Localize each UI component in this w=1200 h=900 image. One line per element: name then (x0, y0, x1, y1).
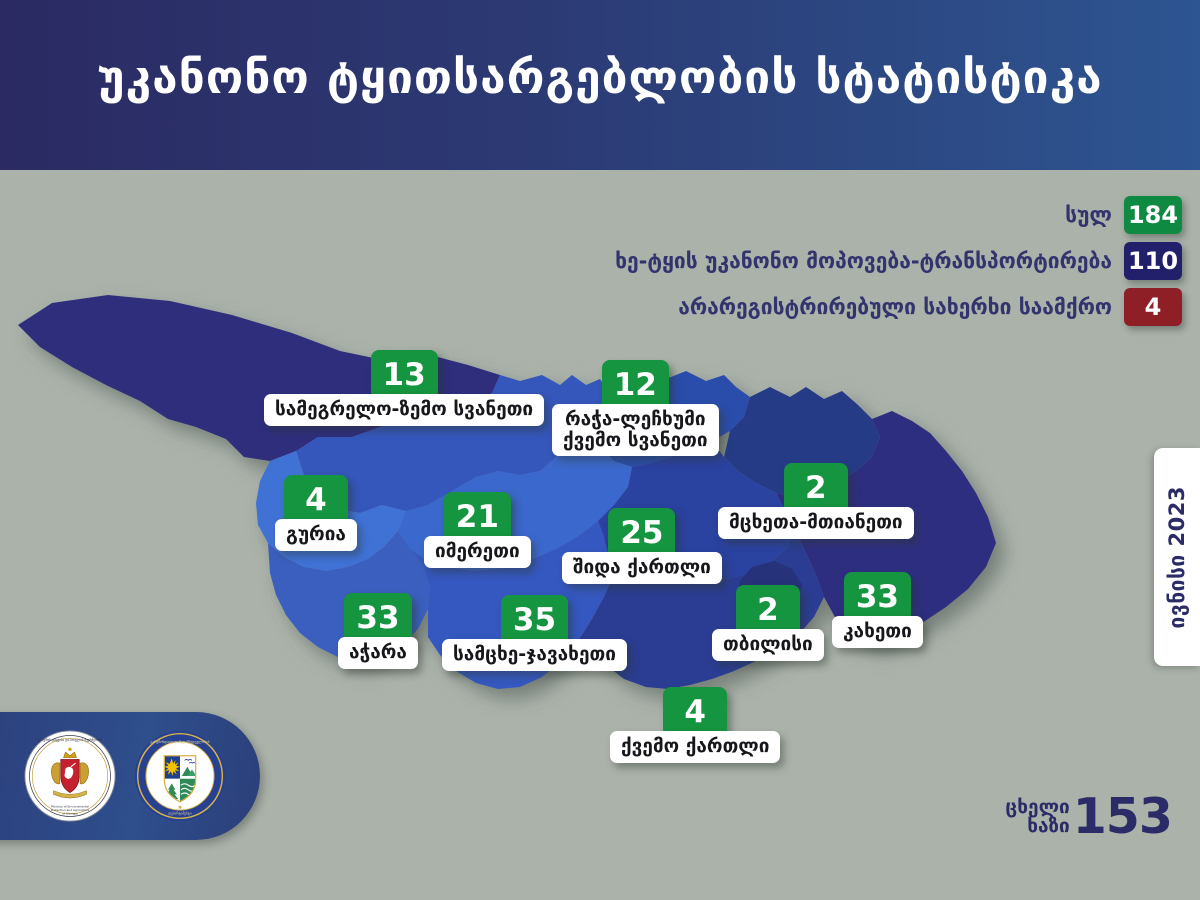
callout-label-samegrelo-zemo-svaneti: სამეგრელო-ზემო სვანეთი (264, 394, 544, 426)
callout-label-mtskheta-mtianeti: მცხეთა-მთიანეთი (718, 507, 914, 539)
callout-label-adjara: აჭარა (338, 637, 418, 669)
callout-adjara[interactable]: 33 აჭარა (338, 593, 418, 669)
callout-value-guria: 4 (284, 475, 348, 525)
callout-value-tbilisi: 2 (736, 585, 800, 635)
callout-value-adjara: 33 (344, 593, 411, 643)
logo-panel: გარემოს დაცვისა და სოფლის მეურნეობის Min… (0, 712, 260, 840)
svg-text:გარემოს დაცვისა და სოფლის მეურ: გარემოს დაცვისა და სოფლის მეურნეობის (38, 738, 103, 742)
hotline-number: 153 (1073, 796, 1172, 838)
callout-label-kvemo-kartli: ქვემო ქართლი (610, 731, 780, 763)
callout-kvemo-kartli[interactable]: 4 ქვემო ქართლი (610, 687, 780, 763)
callout-value-samtskhe-javakheti: 35 (501, 595, 568, 645)
svg-text:of Georgia: of Georgia (62, 812, 77, 816)
callout-guria[interactable]: 4 გურია (275, 475, 357, 551)
hotline-word-line: ხაზი (1027, 817, 1070, 836)
callout-samtskhe-javakheti[interactable]: 35 სამცხე-ჯავახეთი (442, 595, 627, 671)
svg-text:გარემოსდაცვითი ზედამხედველობის: გარემოსდაცვითი ზედამხედველობის (150, 740, 209, 744)
callout-label-tbilisi: თბილისი (712, 629, 824, 661)
callout-label-kakheti: კახეთი (832, 616, 923, 648)
page-title: უკანონო ტყითსარგებლობის სტატისტიკა (97, 54, 1102, 116)
callout-value-racha-lechkhumi: 12 (602, 360, 669, 410)
callout-samegrelo-zemo-svaneti[interactable]: 13 სამეგრელო-ზემო სვანეთი (264, 350, 544, 426)
callout-racha-lechkhumi[interactable]: 12 რაჭა-ლეჩხუმი ქვემო სვანეთი (552, 360, 719, 456)
callout-value-shida-kartli: 25 (608, 508, 675, 558)
page-header: უკანონო ტყითსარგებლობის სტატისტიკა (0, 0, 1200, 170)
callout-label-shida-kartli: შიდა ქართლი (562, 552, 722, 584)
callout-mtskheta-mtianeti[interactable]: 2 მცხეთა-მთიანეთი (718, 463, 914, 539)
callout-value-kakheti: 33 (844, 572, 911, 622)
callout-shida-kartli[interactable]: 25 შიდა ქართლი (562, 508, 722, 584)
hotline-words: ცხელი ხაზი (1005, 798, 1069, 837)
hotline: ცხელი ხაზი 153 (1005, 796, 1172, 838)
callout-imereti[interactable]: 21 იმერეთი (424, 492, 531, 568)
svg-text:დეპარტამენტი: დეპარტამენტი (168, 812, 191, 816)
callout-label-racha-lechkhumi: რაჭა-ლეჩხუმი ქვემო სვანეთი (552, 404, 719, 456)
callout-label-samtskhe-javakheti: სამცხე-ჯავახეთი (442, 639, 627, 671)
callout-label-imereti: იმერეთი (424, 536, 531, 568)
callout-label-guria: გურია (275, 519, 357, 551)
callout-tbilisi[interactable]: 2 თბილისი (712, 585, 824, 661)
callout-kakheti[interactable]: 33 კახეთი (832, 572, 923, 648)
ministry-of-environmental-protection-and-agriculture-emblem: გარემოს დაცვისა და სოფლის მეურნეობის Min… (24, 730, 116, 822)
callout-value-kvemo-kartli: 4 (663, 687, 727, 737)
environmental-supervision-department-emblem: გარემოსდაცვითი ზედამხედველობის დეპარტამე… (134, 730, 226, 822)
callout-value-mtskheta-mtianeti: 2 (784, 463, 848, 513)
callout-value-imereti: 21 (444, 492, 511, 542)
callout-value-samegrelo-zemo-svaneti: 13 (371, 350, 438, 400)
